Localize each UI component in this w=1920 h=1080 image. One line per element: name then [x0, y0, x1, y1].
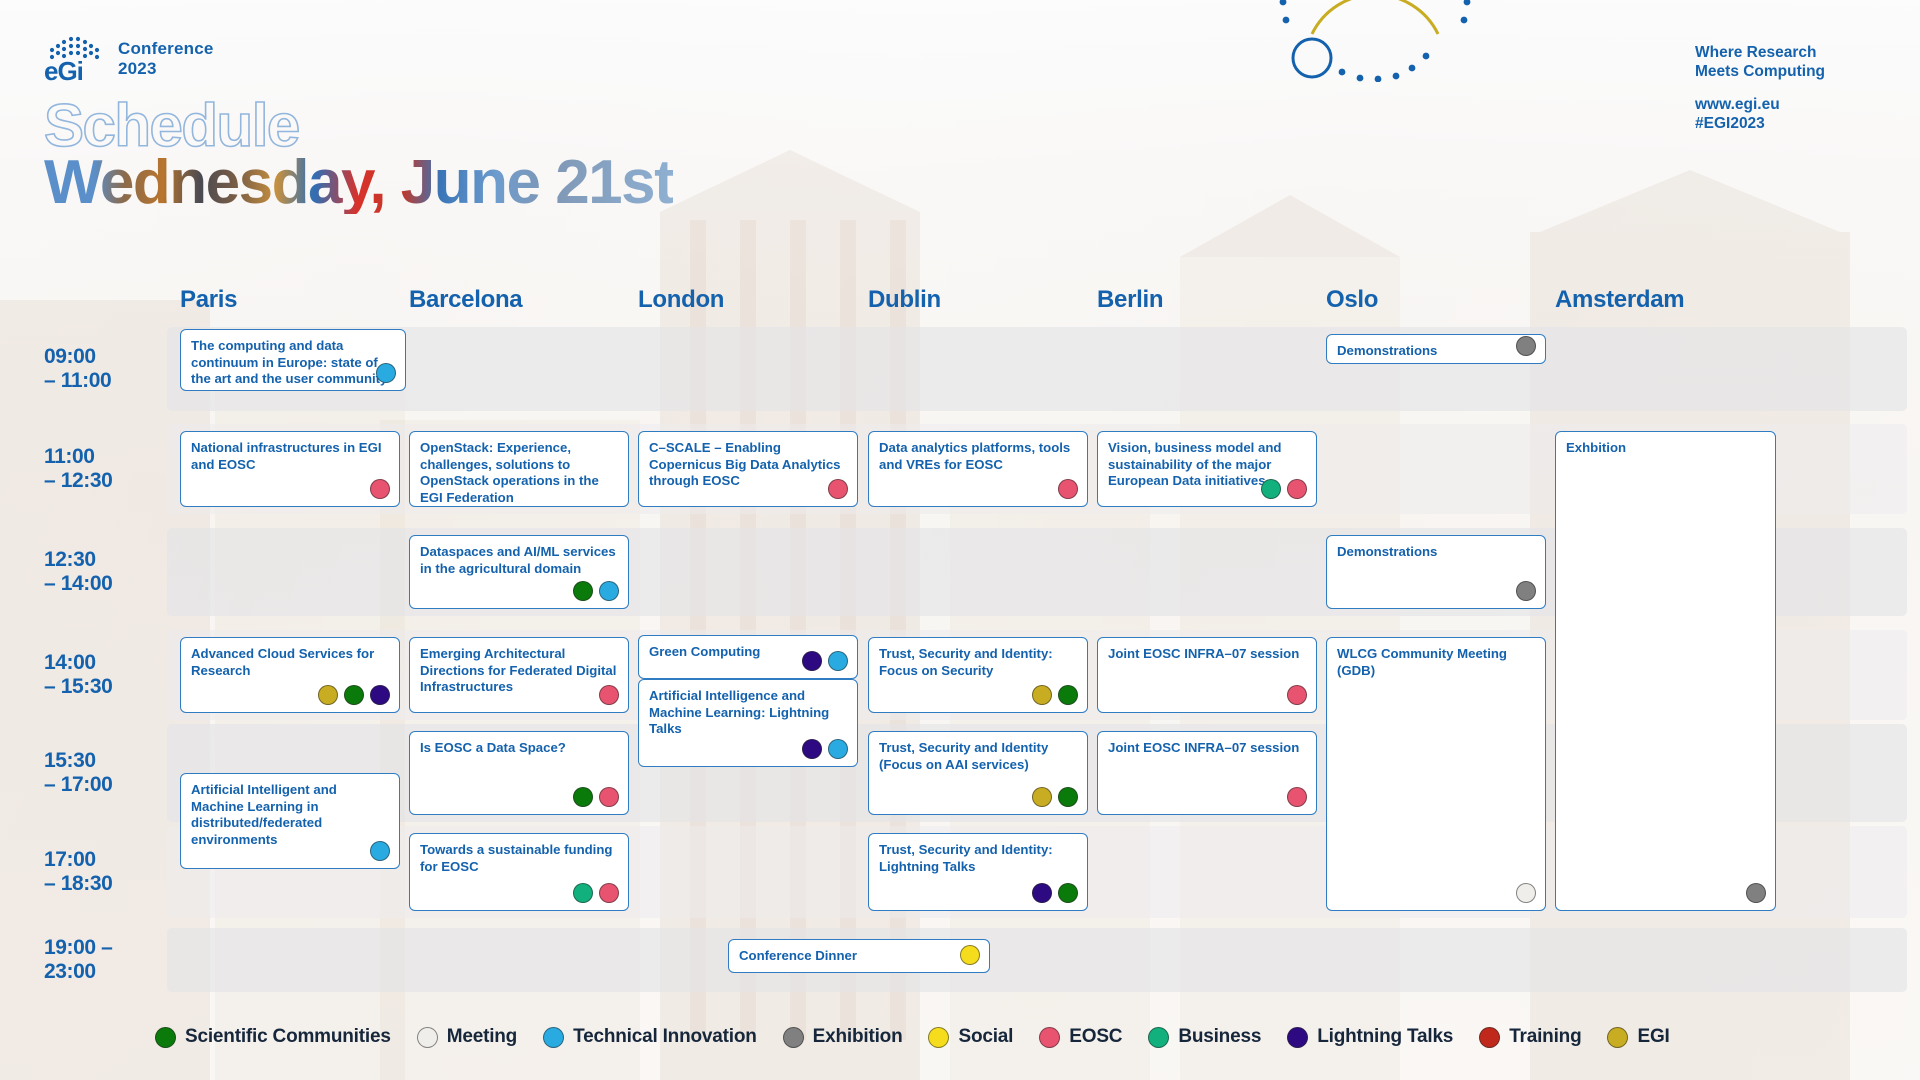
- track-dot-exhibition: [1746, 883, 1766, 903]
- legend-label: EGI: [1637, 1026, 1669, 1048]
- time-label-line: 15:30: [44, 749, 169, 773]
- time-label-2: 12:30– 14:00: [44, 548, 169, 596]
- legend-dot-egi-icon: [1607, 1027, 1628, 1048]
- tagline-block: Where Research Meets Computing www.egi.e…: [1695, 44, 1895, 134]
- legend-dot-technical-innovation-icon: [543, 1027, 564, 1048]
- session-track-dots: [370, 841, 390, 861]
- legend: Scientific CommunitiesMeetingTechnical I…: [155, 1026, 1875, 1048]
- session-card[interactable]: C–SCALE – Enabling Copernicus Big Data A…: [638, 431, 858, 507]
- legend-dot-exhibition-icon: [783, 1027, 804, 1048]
- legend-item-social: Social: [928, 1026, 1013, 1048]
- legend-dot-scientific-communities-icon: [155, 1027, 176, 1048]
- session-title: Towards a sustainable funding for EOSC: [420, 842, 618, 875]
- conference-label: Conference 2023: [118, 39, 214, 78]
- session-title: Is EOSC a Data Space?: [420, 740, 618, 757]
- session-title: The computing and data continuum in Euro…: [191, 338, 395, 391]
- track-dot-lightning-talks: [1032, 883, 1052, 903]
- session-track-dots: [1516, 581, 1536, 601]
- session-card[interactable]: Conference Dinner: [728, 939, 990, 973]
- session-title: Joint EOSC INFRA–07 session: [1108, 740, 1306, 757]
- time-label-4: 15:30– 17:00: [44, 749, 169, 797]
- session-track-dots: [1058, 479, 1078, 499]
- page-title-schedule: Schedule: [44, 96, 299, 156]
- legend-dot-lightning-talks-icon: [1287, 1027, 1308, 1048]
- legend-label: Training: [1509, 1026, 1581, 1048]
- legend-dot-eosc-icon: [1039, 1027, 1060, 1048]
- schedule-row-band: [167, 327, 1907, 411]
- column-header-dublin: Dublin: [868, 286, 941, 314]
- session-track-dots: [960, 945, 980, 965]
- legend-label: Social: [958, 1026, 1013, 1048]
- time-label-5: 17:00– 18:30: [44, 848, 169, 896]
- track-dot-eosc: [1287, 685, 1307, 705]
- time-label-line: 17:00: [44, 848, 169, 872]
- track-dot-technical-innovation: [376, 363, 396, 383]
- session-title: Advanced Cloud Services for Research: [191, 646, 389, 679]
- track-dot-social: [960, 945, 980, 965]
- page-title-day: Wednesday, June 21st: [44, 152, 673, 214]
- legend-item-business: Business: [1148, 1026, 1261, 1048]
- legend-item-exhibition: Exhibition: [783, 1026, 903, 1048]
- track-dot-egi: [1032, 787, 1052, 807]
- svg-text:eGi: eGi: [44, 56, 83, 82]
- track-dot-technical-innovation: [599, 581, 619, 601]
- session-card[interactable]: OpenStack: Experience, challenges, solut…: [409, 431, 629, 507]
- session-track-dots: [573, 581, 619, 601]
- track-dot-business: [573, 883, 593, 903]
- session-title: Artificial Intelligent and Machine Learn…: [191, 782, 389, 849]
- session-card[interactable]: Joint EOSC INFRA–07 session: [1097, 637, 1317, 713]
- session-title: Demonstrations: [1337, 544, 1535, 561]
- session-card[interactable]: Demonstrations: [1326, 334, 1546, 364]
- track-dot-exhibition: [1516, 336, 1536, 356]
- time-label-0: 09:00– 11:00: [44, 345, 169, 393]
- time-label-3: 14:00– 15:30: [44, 651, 169, 699]
- website-url[interactable]: www.egi.eu: [1695, 96, 1895, 115]
- legend-item-technical-innovation: Technical Innovation: [543, 1026, 757, 1048]
- session-track-dots: [1746, 883, 1766, 903]
- track-dot-technical-innovation: [370, 841, 390, 861]
- track-dot-eosc: [370, 479, 390, 499]
- session-track-dots: [1516, 883, 1536, 903]
- session-track-dots: [1032, 883, 1078, 903]
- legend-label: Exhibition: [813, 1026, 903, 1048]
- session-title: Trust, Security and Identity (Focus on A…: [879, 740, 1077, 773]
- session-title: Data analytics platforms, tools and VREs…: [879, 440, 1077, 473]
- session-title: National infrastructures in EGI and EOSC: [191, 440, 389, 473]
- schedule-row-band: [167, 928, 1907, 992]
- session-card[interactable]: Demonstrations: [1326, 535, 1546, 609]
- time-label-6: 19:00 –23:00: [44, 936, 169, 984]
- track-dot-meeting: [1516, 883, 1536, 903]
- session-card[interactable]: Advanced Cloud Services for Research: [180, 637, 400, 713]
- session-card[interactable]: Data analytics platforms, tools and VREs…: [868, 431, 1088, 507]
- session-card[interactable]: The computing and data continuum in Euro…: [180, 329, 406, 391]
- time-label-line: – 17:00: [44, 773, 169, 797]
- time-label-line: 23:00: [44, 960, 169, 984]
- session-title: Conference Dinner: [739, 948, 979, 965]
- track-dot-business: [1261, 479, 1281, 499]
- session-track-dots: [828, 479, 848, 499]
- legend-label: Technical Innovation: [573, 1026, 757, 1048]
- session-card[interactable]: Trust, Security and Identity: Focus on S…: [868, 637, 1088, 713]
- track-dot-scientific-communities: [344, 685, 364, 705]
- session-title: C–SCALE – Enabling Copernicus Big Data A…: [649, 440, 847, 490]
- session-title: Joint EOSC INFRA–07 session: [1108, 646, 1306, 663]
- legend-label: Scientific Communities: [185, 1026, 391, 1048]
- time-label-line: – 11:00: [44, 369, 169, 393]
- track-dot-scientific-communities: [1058, 883, 1078, 903]
- track-dot-egi: [318, 685, 338, 705]
- session-title: Demonstrations: [1337, 343, 1535, 360]
- column-header-london: London: [638, 286, 724, 314]
- legend-label: Meeting: [447, 1026, 517, 1048]
- session-card[interactable]: Trust, Security and Identity (Focus on A…: [868, 731, 1088, 815]
- time-label-line: – 18:30: [44, 872, 169, 896]
- track-dot-scientific-communities: [1058, 685, 1078, 705]
- legend-item-meeting: Meeting: [417, 1026, 517, 1048]
- track-dot-eosc: [599, 883, 619, 903]
- conference-word: Conference: [118, 39, 214, 59]
- session-title: Trust, Security and Identity: Lightning …: [879, 842, 1077, 875]
- session-track-dots: [802, 651, 848, 671]
- column-header-amsterdam: Amsterdam: [1555, 286, 1684, 314]
- column-header-oslo: Oslo: [1326, 286, 1378, 314]
- legend-item-training: Training: [1479, 1026, 1581, 1048]
- dot-arc-decoration: [1250, 0, 1500, 82]
- session-title: OpenStack: Experience, challenges, solut…: [420, 440, 618, 507]
- legend-dot-training-icon: [1479, 1027, 1500, 1048]
- legend-dot-business-icon: [1148, 1027, 1169, 1048]
- session-title: Artificial Intelligence and Machine Lear…: [649, 688, 847, 738]
- time-label-line: 09:00: [44, 345, 169, 369]
- tagline-line-2: Meets Computing: [1695, 63, 1895, 82]
- session-track-dots: [573, 787, 619, 807]
- session-track-dots: [1287, 685, 1307, 705]
- session-card[interactable]: Green Computing: [638, 635, 858, 679]
- session-card[interactable]: Artificial Intelligent and Machine Learn…: [180, 773, 400, 869]
- track-dot-lightning-talks: [802, 739, 822, 759]
- track-dot-eosc: [828, 479, 848, 499]
- track-dot-scientific-communities: [1058, 787, 1078, 807]
- legend-item-scientific-communities: Scientific Communities: [155, 1026, 391, 1048]
- track-dot-eosc: [1287, 479, 1307, 499]
- session-card[interactable]: Dataspaces and AI/ML services in the agr…: [409, 535, 629, 609]
- session-card[interactable]: Trust, Security and Identity: Lightning …: [868, 833, 1088, 911]
- session-card[interactable]: Artificial Intelligence and Machine Lear…: [638, 679, 858, 767]
- session-card[interactable]: Towards a sustainable funding for EOSC: [409, 833, 629, 911]
- legend-dot-meeting-icon: [417, 1027, 438, 1048]
- time-label-line: – 14:00: [44, 572, 169, 596]
- session-card[interactable]: WLCG Community Meeting (GDB): [1326, 637, 1546, 911]
- track-dot-eosc: [1058, 479, 1078, 499]
- session-card[interactable]: Joint EOSC INFRA–07 session: [1097, 731, 1317, 815]
- track-dot-egi: [1032, 685, 1052, 705]
- schedule-poster: eGi Conference 2023 Schedule Wednesday, …: [0, 0, 1920, 1080]
- legend-item-eosc: EOSC: [1039, 1026, 1122, 1048]
- track-dot-lightning-talks: [802, 651, 822, 671]
- session-title: Emerging Architectural Directions for Fe…: [420, 646, 618, 696]
- track-dot-eosc: [599, 685, 619, 705]
- schedule-grid: The computing and data continuum in Euro…: [167, 327, 1907, 967]
- session-track-dots: [573, 883, 619, 903]
- time-label-line: 19:00 –: [44, 936, 169, 960]
- time-label-line: 11:00: [44, 445, 169, 469]
- track-dot-technical-innovation: [828, 651, 848, 671]
- session-track-dots: [1032, 685, 1078, 705]
- session-title: Exhbition: [1566, 440, 1765, 457]
- track-dot-technical-innovation: [828, 739, 848, 759]
- time-label-1: 11:00– 12:30: [44, 445, 169, 493]
- legend-item-lightning-talks: Lightning Talks: [1287, 1026, 1453, 1048]
- session-card[interactable]: Exhbition: [1555, 431, 1776, 911]
- session-track-dots: [1261, 479, 1307, 499]
- time-label-line: 12:30: [44, 548, 169, 572]
- egi-logo: eGi Conference 2023: [44, 36, 214, 82]
- session-track-dots: [1287, 787, 1307, 807]
- session-track-dots: [376, 363, 396, 383]
- column-header-berlin: Berlin: [1097, 286, 1163, 314]
- session-card[interactable]: Emerging Architectural Directions for Fe…: [409, 637, 629, 713]
- session-card[interactable]: National infrastructures in EGI and EOSC: [180, 431, 400, 507]
- time-label-line: 14:00: [44, 651, 169, 675]
- session-card[interactable]: Is EOSC a Data Space?: [409, 731, 629, 815]
- track-dot-exhibition: [1516, 581, 1536, 601]
- track-dot-scientific-communities: [573, 787, 593, 807]
- session-track-dots: [1032, 787, 1078, 807]
- tagline-line-1: Where Research: [1695, 44, 1895, 63]
- session-title: Dataspaces and AI/ML services in the agr…: [420, 544, 618, 577]
- egi-dots-logo-icon: eGi: [44, 36, 106, 82]
- legend-dot-social-icon: [928, 1027, 949, 1048]
- track-dot-eosc: [1287, 787, 1307, 807]
- legend-item-egi: EGI: [1607, 1026, 1669, 1048]
- track-dot-scientific-communities: [573, 581, 593, 601]
- session-track-dots: [318, 685, 390, 705]
- conference-year: 2023: [118, 59, 214, 79]
- legend-label: EOSC: [1069, 1026, 1122, 1048]
- time-label-line: – 15:30: [44, 675, 169, 699]
- track-dot-eosc: [599, 787, 619, 807]
- legend-label: Lightning Talks: [1317, 1026, 1453, 1048]
- time-label-line: – 12:30: [44, 469, 169, 493]
- legend-label: Business: [1178, 1026, 1261, 1048]
- session-card[interactable]: Vision, business model and sustainabilit…: [1097, 431, 1317, 507]
- column-header-paris: Paris: [180, 286, 237, 314]
- session-track-dots: [802, 739, 848, 759]
- column-header-barcelona: Barcelona: [409, 286, 522, 314]
- track-dot-lightning-talks: [370, 685, 390, 705]
- session-track-dots: [370, 479, 390, 499]
- session-track-dots: [1516, 336, 1536, 356]
- hashtag: #EGI2023: [1695, 115, 1895, 134]
- session-title: WLCG Community Meeting (GDB): [1337, 646, 1535, 679]
- room-column-headers: ParisBarcelonaLondonDublinBerlinOsloAmst…: [0, 286, 1920, 320]
- session-title: Trust, Security and Identity: Focus on S…: [879, 646, 1077, 679]
- session-track-dots: [599, 685, 619, 705]
